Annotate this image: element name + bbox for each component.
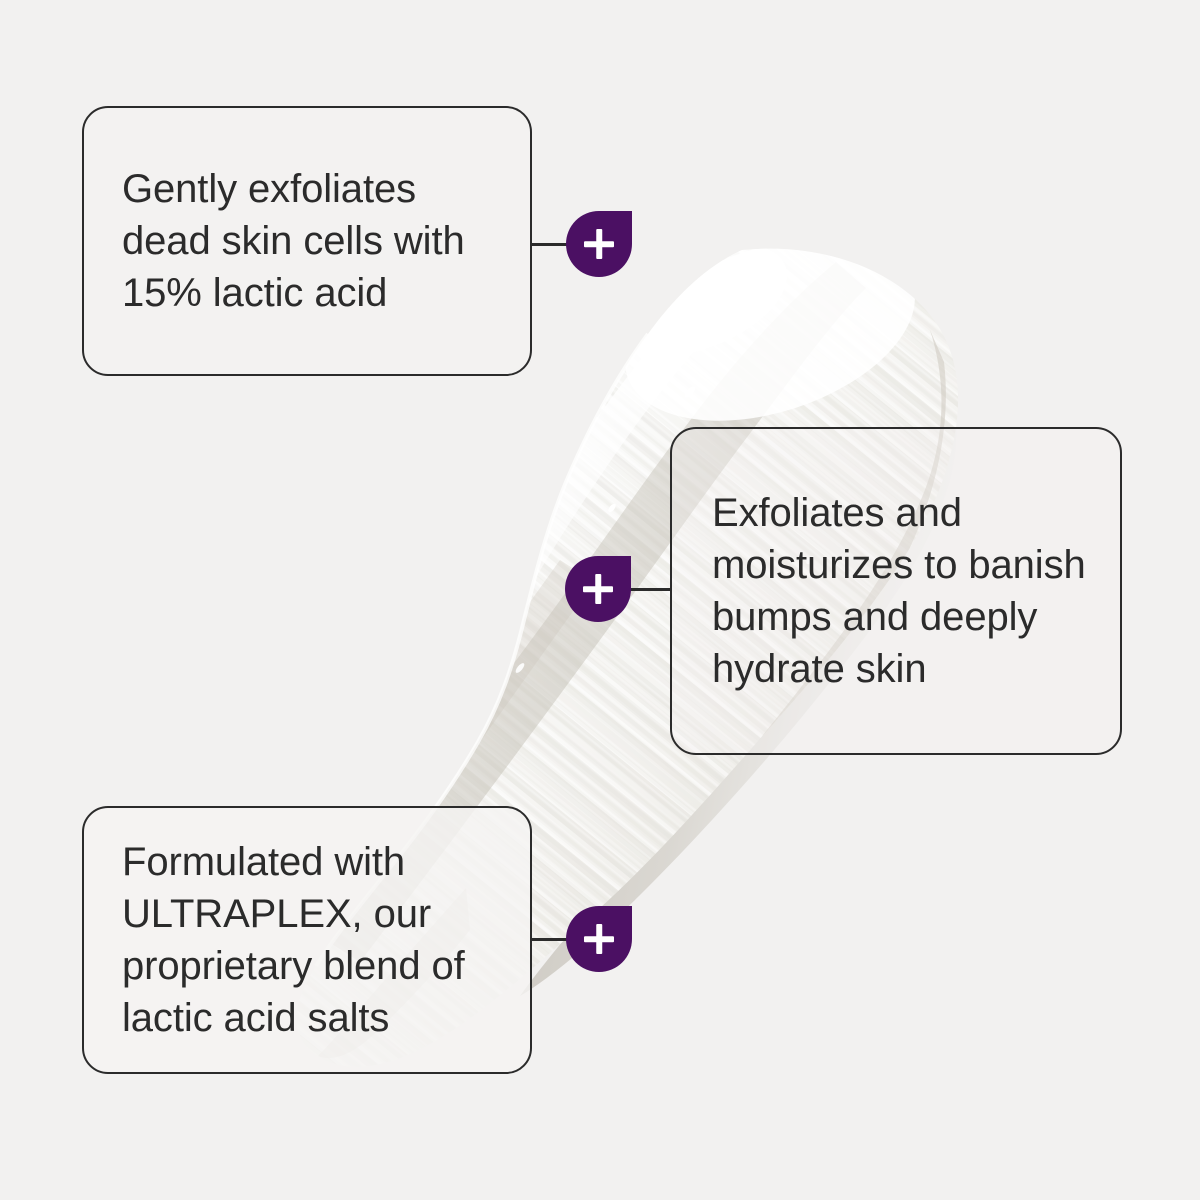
infographic-canvas: Gently exfoliates dead skin cells with 1… xyxy=(0,0,1200,1200)
plus-icon-1[interactable] xyxy=(566,211,632,277)
callout-text-2: Exfoliates and moisturizes to banish bum… xyxy=(672,487,1120,695)
callout-text-1: Gently exfoliates dead skin cells with 1… xyxy=(84,163,530,319)
plus-glyph-1 xyxy=(584,229,614,259)
callout-box-3[interactable]: Formulated with ULTRAPLEX, our proprieta… xyxy=(82,806,532,1074)
callout-box-2[interactable]: Exfoliates and moisturizes to banish bum… xyxy=(670,427,1122,755)
plus-glyph-3 xyxy=(584,924,614,954)
plus-glyph-2 xyxy=(583,574,613,604)
callout-text-3: Formulated with ULTRAPLEX, our proprieta… xyxy=(84,836,530,1044)
connector-line-2 xyxy=(624,588,672,591)
plus-icon-3[interactable] xyxy=(566,906,632,972)
callout-box-1[interactable]: Gently exfoliates dead skin cells with 1… xyxy=(82,106,532,376)
plus-icon-2[interactable] xyxy=(565,556,631,622)
